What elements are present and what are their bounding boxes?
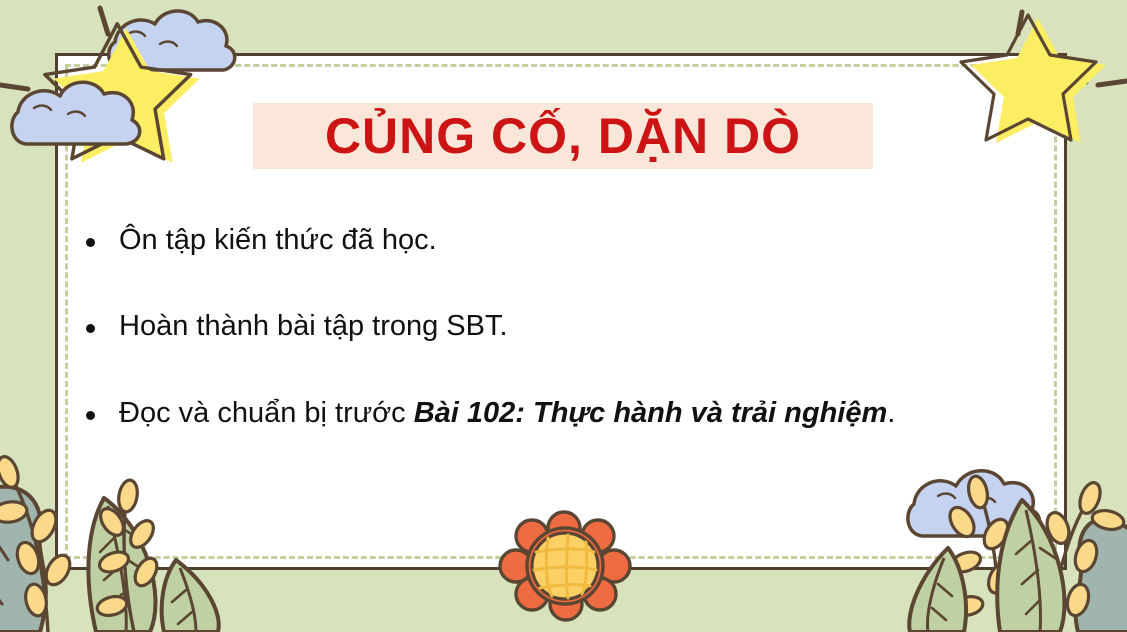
dash-mark-right-long	[1098, 81, 1127, 85]
list-item-lead: Đọc và chuẩn bị trước	[119, 397, 414, 429]
bullet-dot-icon	[86, 324, 95, 333]
list-item-emphasis: Bài 102: Thực hành và trải nghiệm	[414, 397, 888, 429]
dash-mark-left	[0, 85, 28, 89]
list-item-text: Ôn tập kiến thức đã học.	[119, 222, 437, 258]
list-item-text: Hoàn thành bài tập trong SBT.	[119, 308, 508, 344]
title-banner: CỦNG CỐ, DẶN DÒ	[253, 103, 873, 169]
bush-bottom-left	[0, 487, 46, 632]
list-item: Hoàn thành bài tập trong SBT.	[86, 308, 1046, 344]
slide-canvas: CỦNG CỐ, DẶN DÒ Ôn tập kiến thức đã học.…	[0, 0, 1127, 632]
bullet-list: Ôn tập kiến thức đã học. Hoàn thành bài …	[86, 222, 1046, 431]
list-item-lead: Ôn tập kiến thức đã học.	[119, 224, 437, 256]
dash-mark-top-left	[100, 8, 108, 34]
dash-mark-top-right	[1018, 12, 1022, 34]
bullet-dot-icon	[86, 411, 95, 420]
list-item-tail: .	[887, 397, 895, 429]
bush-bottom-right	[1076, 519, 1127, 632]
bullet-dot-icon	[86, 238, 95, 247]
dash-mark-right-short	[1076, 80, 1086, 82]
list-item: Ôn tập kiến thức đã học.	[86, 222, 1046, 258]
list-item-lead: Hoàn thành bài tập trong SBT.	[119, 310, 508, 342]
list-item-text: Đọc và chuẩn bị trước Bài 102: Thực hành…	[119, 395, 895, 431]
list-item: Đọc và chuẩn bị trước Bài 102: Thực hành…	[86, 395, 1046, 431]
page-title: CỦNG CỐ, DẶN DÒ	[325, 111, 801, 161]
